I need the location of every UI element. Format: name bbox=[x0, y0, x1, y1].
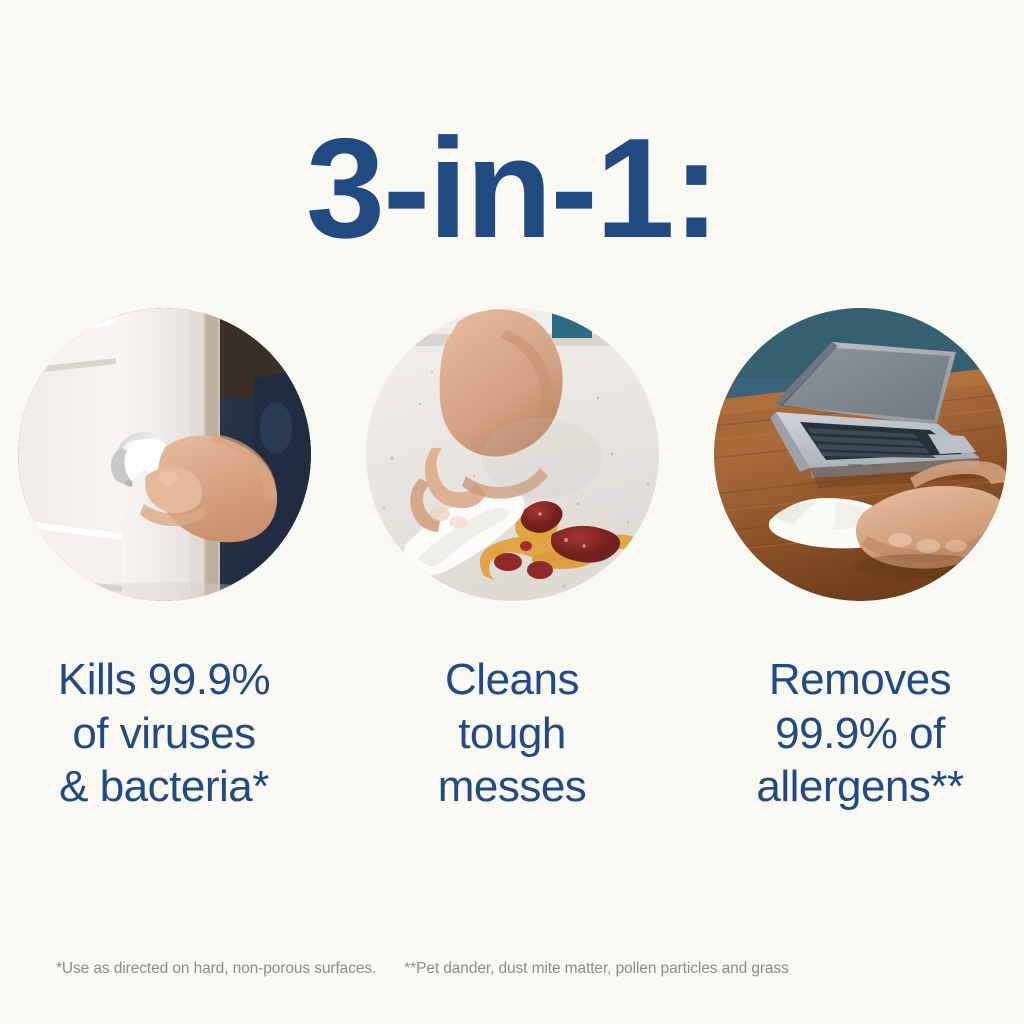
feature-row: Kills 99.9% of viruses & bacteria* bbox=[0, 308, 1024, 814]
feature-removes-allergens: Removes 99.9% of allergens** bbox=[714, 308, 1007, 814]
product-benefits-infographic: 3-in-1: bbox=[0, 0, 1024, 1024]
footnote-asterisk-one: *Use as directed on hard, non-porous sur… bbox=[56, 960, 376, 978]
caption-line: & bacteria* bbox=[58, 760, 270, 814]
feature-caption: Cleans tough messes bbox=[438, 653, 587, 814]
hand-wiping-doorknob-photo bbox=[18, 308, 311, 601]
page-title: 3-in-1: bbox=[0, 118, 1024, 260]
caption-line: 99.9% of bbox=[756, 707, 963, 761]
hand-wiping-countertop-spill-photo bbox=[366, 308, 659, 601]
hand-wiping-wooden-desk-laptop-photo bbox=[714, 308, 1007, 601]
caption-line: Kills 99.9% bbox=[58, 653, 270, 707]
feature-kills-germs: Kills 99.9% of viruses & bacteria* bbox=[18, 308, 311, 814]
caption-line: of viruses bbox=[58, 707, 270, 761]
caption-line: Removes bbox=[756, 653, 963, 707]
feature-cleans-messes: Cleans tough messes bbox=[366, 308, 659, 814]
caption-line: Cleans bbox=[438, 653, 587, 707]
footnotes: *Use as directed on hard, non-porous sur… bbox=[56, 960, 789, 978]
caption-line: messes bbox=[438, 760, 587, 814]
feature-caption: Removes 99.9% of allergens** bbox=[756, 653, 963, 814]
footnote-asterisk-two: **Pet dander, dust mite matter, pollen p… bbox=[404, 960, 789, 978]
caption-line: tough bbox=[438, 707, 587, 761]
feature-caption: Kills 99.9% of viruses & bacteria* bbox=[58, 653, 270, 814]
caption-line: allergens** bbox=[756, 760, 963, 814]
